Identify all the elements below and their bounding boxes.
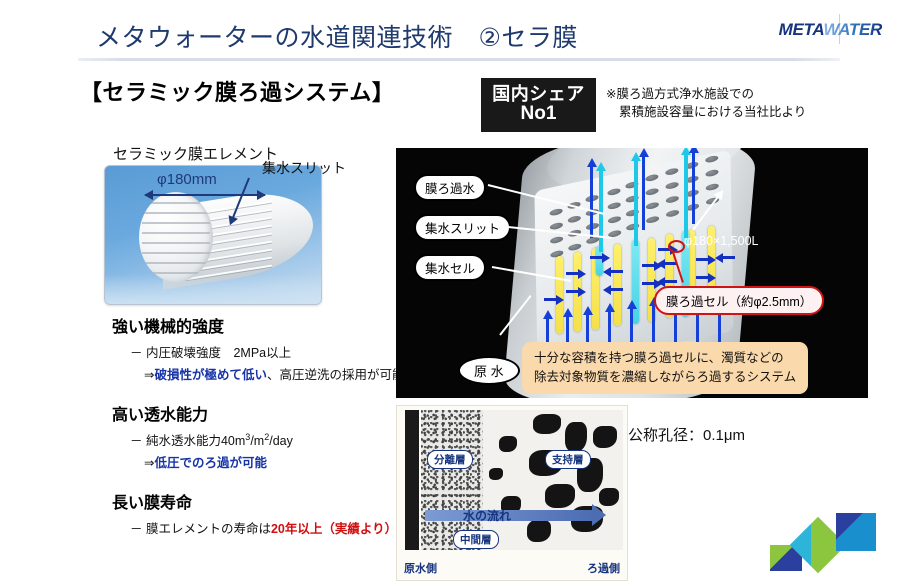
page-title: メタウォーターの水道関連技術 ②セラ膜 <box>96 18 578 54</box>
feature-conclusion: ⇒低圧でのろ過が可能 <box>144 452 412 471</box>
callout-collection-cell: 集水セル <box>414 254 486 281</box>
detail-mid: /m <box>250 434 264 448</box>
section-title: 【セラミック膜ろ過システム】 <box>80 75 394 107</box>
share-footnote: ※膜ろ過方式浄水施設での 累積施設容量における当社比より <box>606 85 806 121</box>
feature-conclusion: ⇒破損性が極めて低い、高圧逆洗の採用が可能 <box>144 364 412 383</box>
callout-collection-slit: 集水スリット <box>414 214 511 241</box>
sem-filtrate-side-label: ろ過側 <box>587 560 620 576</box>
arrow-glyph: ⇒ <box>144 368 154 382</box>
sem-label-separation: 分離層 <box>427 450 473 469</box>
water-flow-label: 水の流れ <box>463 507 511 524</box>
detail-post: /day <box>269 434 293 448</box>
feature-detail: － 純水透水能力40m3/m2/day <box>130 430 412 449</box>
diameter-label: φ180mm <box>157 171 217 188</box>
share-badge-line2: No1 <box>521 104 557 125</box>
logo-meta-text: META <box>779 20 824 39</box>
membrane-cell-marker <box>668 240 685 253</box>
element-size-label: φ180×1,500L <box>684 234 759 248</box>
detail-pre: － 純水透水能力40m <box>130 434 245 448</box>
callout-membrane-cell: 膜ろ過セル（約φ2.5mm） <box>654 286 824 315</box>
sem-coarse-layer <box>483 410 623 550</box>
slide-root: メタウォーターの水道関連技術 ②セラ膜 METAWATER 【セラミック膜ろ過シ… <box>0 0 900 585</box>
feature-highlight: 破損性が極めて低い <box>154 368 267 382</box>
corner-decorative-mark <box>770 509 882 571</box>
feature-list: 強い機械的強度 － 内圧破壊強度 2MPa以上 ⇒破損性が極めて低い、高圧逆洗の… <box>112 313 412 555</box>
sem-dense-edge <box>405 410 419 550</box>
sem-label-intermediate: 中間層 <box>453 530 499 549</box>
ceramic-element-photo: φ180mm <box>104 165 322 305</box>
nominal-pore-size: 公称孔径：0.1μm <box>628 424 745 445</box>
sem-label-support: 支持層 <box>545 450 591 469</box>
feature-conclusion-tail: 、高圧逆洗の採用が可能 <box>267 368 405 382</box>
diameter-arrow <box>145 194 265 196</box>
metawater-logo: METAWATER <box>779 20 882 40</box>
feature-item-lifetime: 長い膜寿命 － 膜エレメントの寿命は20年以上（実績より） <box>112 489 412 537</box>
note-line2: 除去対象物質を濃縮しながらろ過するシステム <box>534 370 796 384</box>
arrow-glyph: ⇒ <box>144 456 154 470</box>
domestic-share-badge: 国内シェア No1 <box>481 78 596 132</box>
membrane-cutaway-diagram: 膜ろ過水 集水スリット 集水セル 原 水 φ180×1,500L 膜ろ過セル（約… <box>396 148 868 398</box>
note-line1: 十分な容積を持つ膜ろ過セルに、濁質などの <box>534 351 784 365</box>
cylinder-end-face <box>139 192 213 282</box>
feature-highlight: 20年以上（実績より） <box>271 522 397 536</box>
callout-filtered-water: 膜ろ過水 <box>414 174 486 201</box>
logo-water-text: WATER <box>823 20 882 39</box>
share-badge-line1: 国内シェア <box>492 85 585 105</box>
feature-detail: － 内圧破壊強度 2MPa以上 <box>130 342 412 361</box>
system-description-note: 十分な容積を持つ膜ろ過セルに、濁質などの 除去対象物質を濃縮しながらろ過するシス… <box>522 342 808 394</box>
header-divider <box>78 58 840 61</box>
callout-raw-water: 原 水 <box>458 356 520 385</box>
share-footnote-line1: ※膜ろ過方式浄水施設での <box>606 87 754 101</box>
detail-pre: － 膜エレメントの寿命は <box>130 522 271 536</box>
feature-heading: 長い膜寿命 <box>112 489 412 513</box>
mark-square-large <box>836 513 876 551</box>
feature-item-strength: 強い機械的強度 － 内圧破壊強度 2MPa以上 ⇒破損性が極めて低い、高圧逆洗の… <box>112 313 412 383</box>
share-footnote-line2: 累積施設容量における当社比より <box>606 103 806 121</box>
sem-micrograph: 分離層 支持層 中間層 水の流れ 原水側 ろ過側 <box>396 405 628 581</box>
sem-raw-side-label: 原水側 <box>404 560 437 576</box>
feature-item-permeability: 高い透水能力 － 純水透水能力40m3/m2/day ⇒低圧でのろ過が可能 <box>112 401 412 471</box>
feature-detail: － 膜エレメントの寿命は20年以上（実績より） <box>130 518 412 537</box>
feature-heading: 強い機械的強度 <box>112 313 412 337</box>
element-photo-caption: セラミック膜エレメント <box>113 143 278 164</box>
photo-slit-label: 集水スリット <box>262 158 346 178</box>
feature-heading: 高い透水能力 <box>112 401 412 425</box>
feature-highlight: 低圧でのろ過が可能 <box>154 456 267 470</box>
sem-fine-layer <box>421 410 483 550</box>
